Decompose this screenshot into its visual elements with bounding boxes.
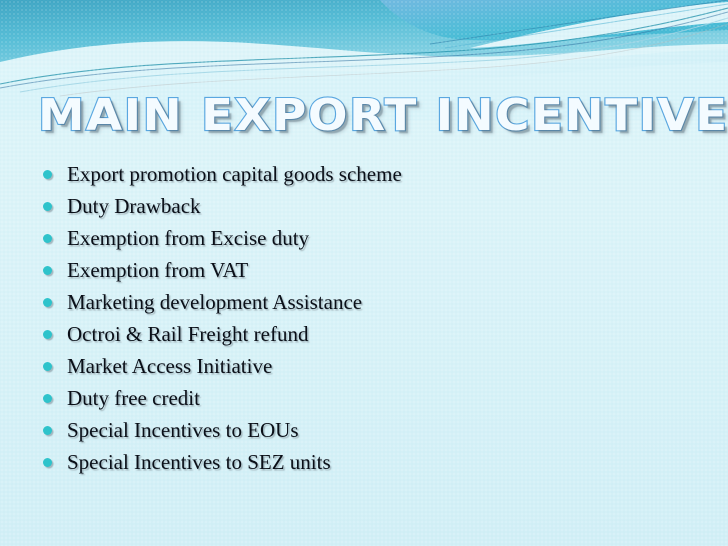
bullet-dot-icon (43, 170, 52, 179)
list-item: Marketing development Assistance (36, 286, 686, 318)
bullet-dot-icon (43, 234, 52, 243)
list-item: Special Incentives to EOUs (36, 414, 686, 446)
list-item-label: Export promotion capital goods scheme (67, 158, 402, 190)
bullet-dot-icon (43, 458, 52, 467)
list-item-label: Octroi & Rail Freight refund (67, 318, 308, 350)
title-container: MAIN EXPORT INCENTIVES (38, 88, 678, 148)
list-item: Export promotion capital goods scheme (36, 158, 686, 190)
list-item: Market Access Initiative (36, 350, 686, 382)
bullet-dot-icon (43, 426, 52, 435)
list-item-label: Exemption from VAT (67, 254, 248, 286)
list-item: Exemption from Excise duty (36, 222, 686, 254)
list-item: Octroi & Rail Freight refund (36, 318, 686, 350)
list-item: Exemption from VAT (36, 254, 686, 286)
bullet-dot-icon (43, 298, 52, 307)
bullet-dot-icon (43, 394, 52, 403)
bullet-dot-icon (43, 362, 52, 371)
list-item-label: Duty free credit (67, 382, 200, 414)
list-item-label: Special Incentives to SEZ units (67, 446, 331, 478)
list-item-label: Duty Drawback (67, 190, 201, 222)
bullet-dot-icon (43, 266, 52, 275)
list-item: Duty free credit (36, 382, 686, 414)
page-title: MAIN EXPORT INCENTIVES (38, 88, 716, 144)
bullet-dot-icon (43, 330, 52, 339)
list-item-label: Marketing development Assistance (67, 286, 362, 318)
incentives-list: Export promotion capital goods scheme Du… (36, 158, 686, 478)
bullet-dot-icon (43, 202, 52, 211)
presentation-slide: MAIN EXPORT INCENTIVES Export promotion … (0, 0, 728, 546)
list-item: Duty Drawback (36, 190, 686, 222)
list-item: Special Incentives to SEZ units (36, 446, 686, 478)
list-item-label: Market Access Initiative (67, 350, 272, 382)
list-item-label: Exemption from Excise duty (67, 222, 309, 254)
list-item-label: Special Incentives to EOUs (67, 414, 299, 446)
